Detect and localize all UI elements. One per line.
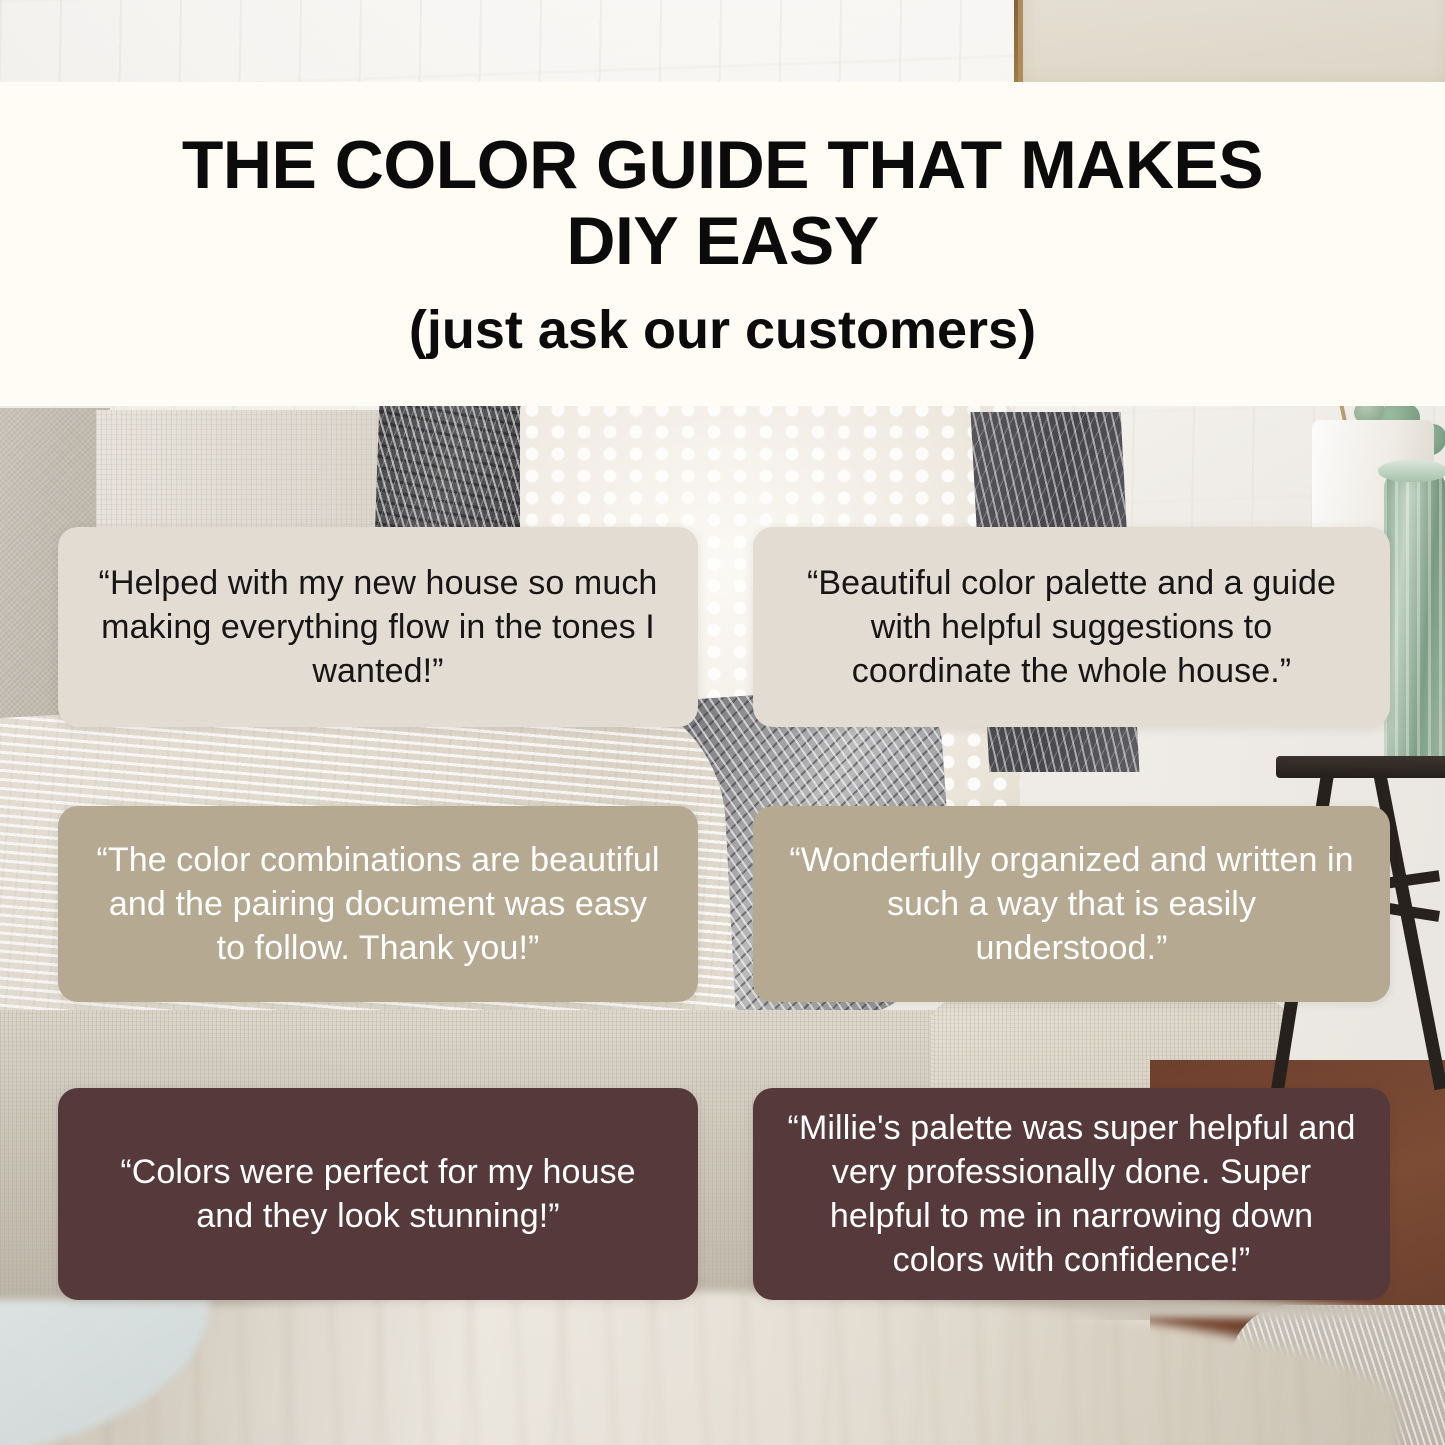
testimonial-quote: “Millie's palette was super helpful and … [787,1106,1356,1283]
testimonial-card: “Helped with my new house so much making… [58,527,698,727]
testimonial-quote: “Wonderfully organized and written in su… [787,838,1356,971]
header-banner: THE COLOR GUIDE THAT MAKES DIY EASY (jus… [0,82,1445,406]
testimonial-card: “Colors were perfect for my house and th… [58,1088,698,1300]
testimonial-card: “Millie's palette was super helpful and … [753,1088,1390,1300]
testimonial-quote: “The color combinations are beautiful an… [92,838,664,971]
page-subtitle: (just ask our customers) [409,301,1036,360]
testimonial-quote: “Beautiful color palette and a guide wit… [787,561,1356,694]
testimonial-card: “The color combinations are beautiful an… [58,806,698,1002]
testimonial-quote: “Colors were perfect for my house and th… [92,1150,664,1238]
testimonial-poster: THE COLOR GUIDE THAT MAKES DIY EASY (jus… [0,0,1445,1445]
testimonial-card: “Wonderfully organized and written in su… [753,806,1390,1002]
testimonial-card: “Beautiful color palette and a guide wit… [753,527,1390,727]
page-title: THE COLOR GUIDE THAT MAKES DIY EASY [118,127,1328,279]
testimonial-quote: “Helped with my new house so much making… [92,561,664,694]
